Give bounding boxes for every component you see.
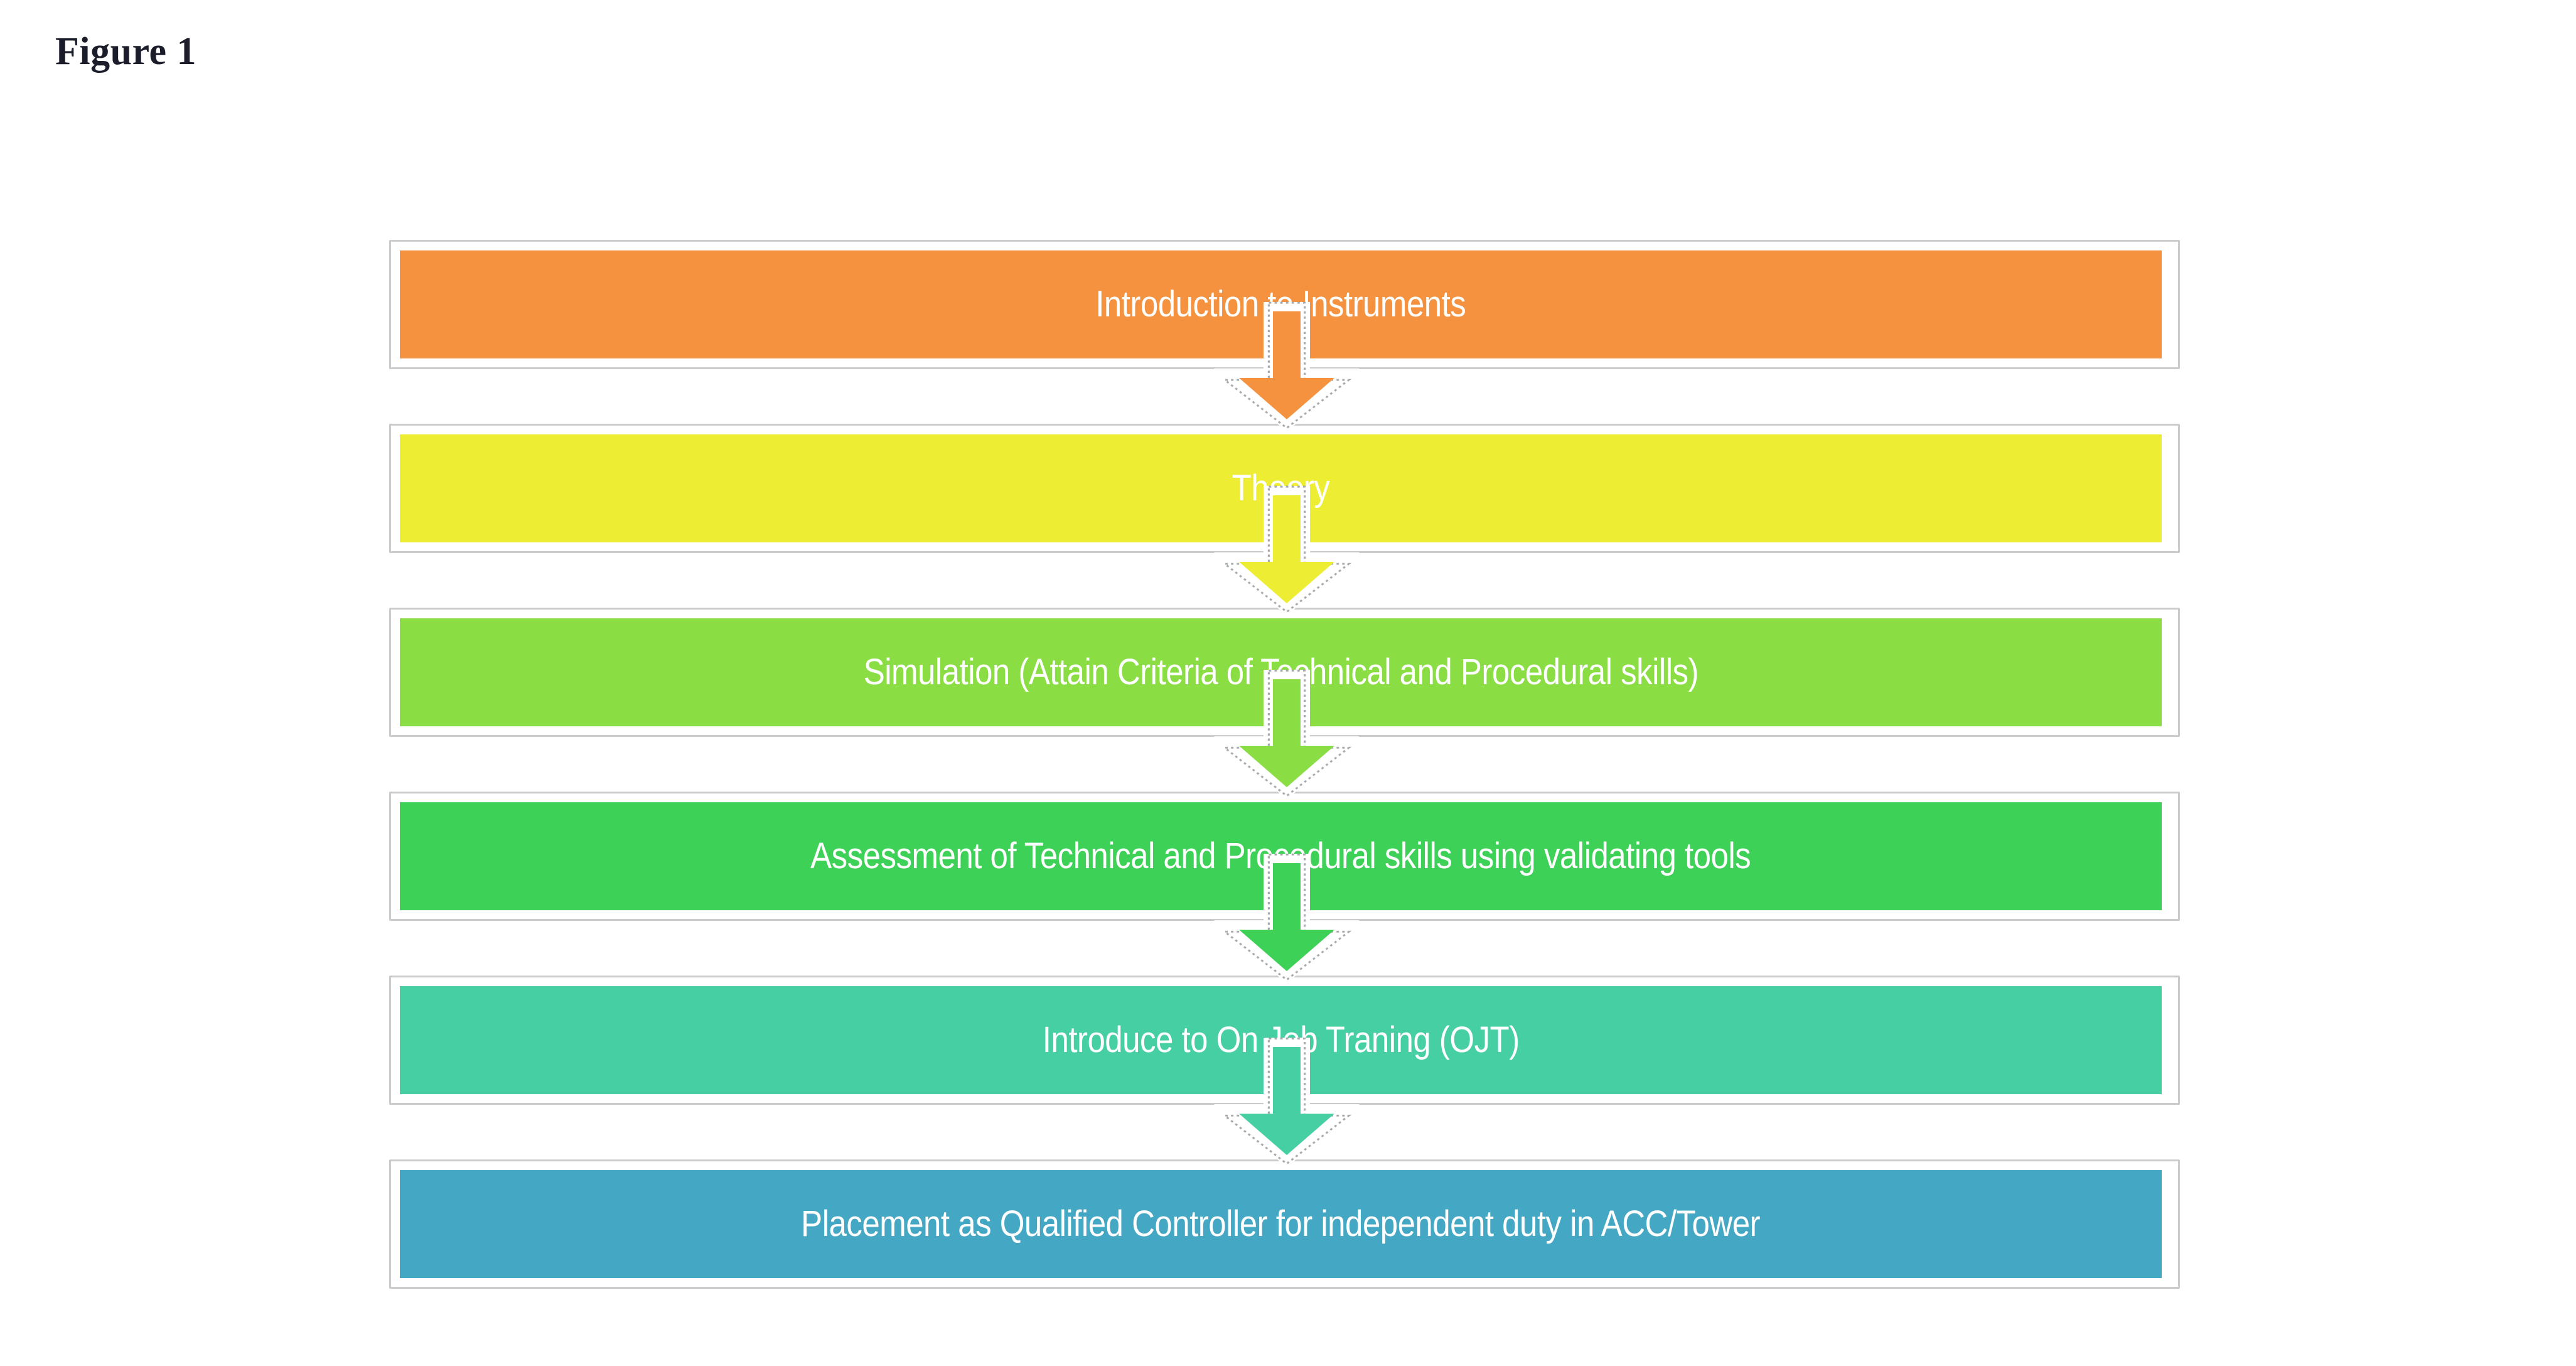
- process-step-6[interactable]: Placement as Qualified Controller for in…: [389, 1159, 2180, 1289]
- process-step-bar[interactable]: Placement as Qualified Controller for in…: [400, 1170, 2162, 1278]
- process-step-bar[interactable]: Assessment of Technical and Procedural s…: [400, 802, 2162, 910]
- process-step-1[interactable]: Introduction to Instruments: [389, 240, 2180, 369]
- process-step-label: Assessment of Technical and Procedural s…: [797, 838, 1764, 874]
- process-step-3[interactable]: Simulation (Attain Criteria of Technical…: [389, 608, 2180, 737]
- process-step-bar[interactable]: Simulation (Attain Criteria of Technical…: [400, 618, 2162, 726]
- process-step-5[interactable]: Introduce to On Job Traning (OJT): [389, 976, 2180, 1105]
- process-step-bar[interactable]: Introduce to On Job Traning (OJT): [400, 986, 2162, 1094]
- process-step-bar[interactable]: Introduction to Instruments: [400, 250, 2162, 358]
- figure-caption: Figure 1: [55, 30, 196, 73]
- process-flow-diagram: Introduction to InstrumentsTheorySimulat…: [389, 240, 2184, 1289]
- process-step-bar[interactable]: Theory: [400, 434, 2162, 542]
- process-step-label: Simulation (Attain Criteria of Technical…: [850, 654, 1712, 691]
- process-step-2[interactable]: Theory: [389, 424, 2180, 553]
- process-step-label: Theory: [1219, 470, 1343, 507]
- process-step-label: Introduction to Instruments: [1082, 286, 1479, 323]
- process-step-4[interactable]: Assessment of Technical and Procedural s…: [389, 792, 2180, 921]
- process-step-label: Introduce to On Job Traning (OJT): [1029, 1022, 1532, 1058]
- process-step-label: Placement as Qualified Controller for in…: [788, 1206, 1773, 1242]
